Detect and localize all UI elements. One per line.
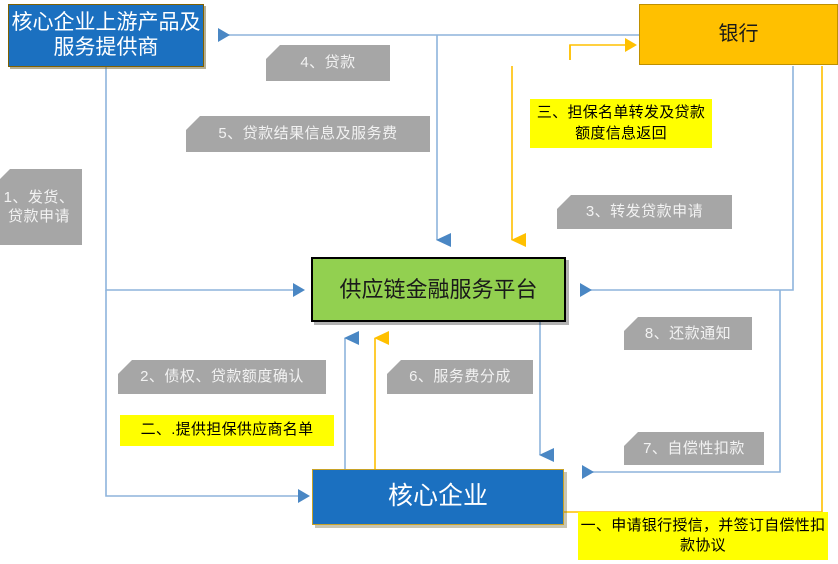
label-step8: 8、还款通知 — [624, 317, 752, 350]
label-step2: 2、债权、贷款额度确认 — [118, 360, 326, 394]
node-bank-label: 银行 — [719, 23, 759, 47]
label-step8-text: 8、还款通知 — [645, 324, 731, 344]
node-platform[interactable]: 供应链金融服务平台 — [311, 257, 566, 322]
arrow-step5-1 — [106, 67, 293, 290]
arrow-cn2-to-bank — [570, 45, 625, 60]
label-step4: 4、贷款 — [266, 45, 390, 81]
label-step1: 1、发货、贷款申请 — [0, 169, 82, 245]
label-step4-text: 4、贷款 — [300, 53, 355, 73]
label-cn2-text: 二、.提供担保供应商名单 — [141, 420, 314, 440]
label-step1-text: 1、发货、贷款申请 — [0, 188, 82, 227]
label-cn3-text: 三、担保名单转发及贷款额度信息返回 — [530, 103, 712, 144]
label-cn3: 三、担保名单转发及贷款额度信息返回 — [530, 99, 712, 148]
label-step6-text: 6、服务费分成 — [409, 367, 511, 387]
label-step7: 7、自偿性扣款 — [624, 432, 764, 465]
supply-chain-finance-diagram: 核心企业上游产品及服务提供商 银行 供应链金融服务平台 核心企业 1、发货、贷款… — [0, 0, 838, 564]
label-step5-text: 5、贷款结果信息及服务费 — [218, 124, 397, 144]
node-platform-label: 供应链金融服务平台 — [339, 277, 537, 303]
node-supplier[interactable]: 核心企业上游产品及服务提供商 — [8, 4, 204, 67]
node-core-enterprise[interactable]: 核心企业 — [312, 469, 564, 525]
label-step5: 5、贷款结果信息及服务费 — [186, 116, 430, 152]
label-step6: 6、服务费分成 — [387, 360, 533, 394]
node-bank[interactable]: 银行 — [639, 4, 838, 65]
label-cn1-text: 一、申请银行授信，并签订自偿性扣款协议 — [578, 516, 828, 557]
label-step2-text: 2、债权、贷款额度确认 — [140, 367, 304, 387]
label-step7-text: 7、自偿性扣款 — [643, 439, 745, 459]
label-cn2: 二、.提供担保供应商名单 — [120, 415, 334, 446]
label-step3-text: 3、转发贷款申请 — [586, 202, 703, 222]
label-cn1: 一、申请银行授信，并签订自偿性扣款协议 — [578, 512, 828, 560]
node-supplier-label: 核心企业上游产品及服务提供商 — [9, 11, 203, 61]
node-core-label: 核心企业 — [388, 482, 488, 512]
label-step3: 3、转发贷款申请 — [557, 195, 732, 229]
